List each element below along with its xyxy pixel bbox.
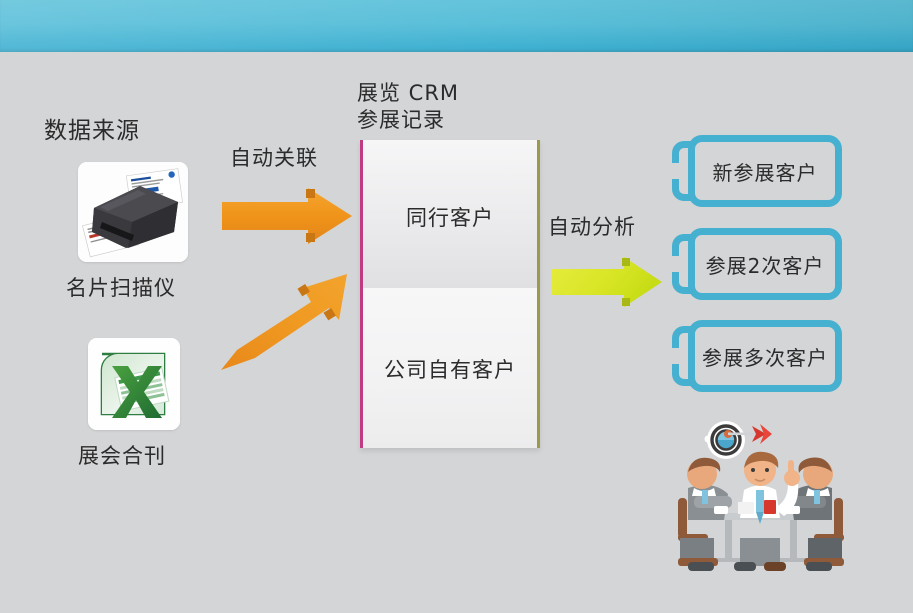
crm-record-panel: 同行客户 公司自有客户 (360, 140, 540, 448)
outcome-box-multi[interactable]: 参展多次客户 (672, 320, 842, 392)
diagram-canvas: 数据来源 (0, 0, 913, 613)
excel-file-icon (88, 338, 180, 430)
outcome-box-twice[interactable]: 参展2次客户 (672, 228, 842, 300)
card-scanner-icon (78, 162, 188, 262)
outcome-box-twice-bracket-gap (672, 256, 681, 272)
business-meeting-illustration (668, 412, 913, 592)
outcome-box-new[interactable]: 新参展客户 (672, 135, 842, 207)
outcome-box-new-bracket-gap (672, 163, 681, 179)
crm-segment-peer: 同行客户 (363, 140, 537, 288)
card-scanner-label: 名片扫描仪 (66, 275, 176, 301)
banner-gradient-overlay (0, 0, 913, 52)
crm-segment-peer-label: 同行客户 (363, 202, 537, 232)
outcome-box-multi-bracket-gap (672, 348, 681, 364)
crm-segment-own-label: 公司自有客户 (363, 354, 537, 384)
excel-file-label: 展会合刊 (78, 443, 166, 469)
outcome-box-twice-label: 参展2次客户 (688, 228, 842, 300)
person-left (678, 458, 732, 571)
data-source-heading: 数据来源 (44, 118, 140, 144)
outcome-box-multi-label: 参展多次客户 (688, 320, 842, 392)
top-banner (0, 0, 913, 52)
crm-title-line1: 展览 CRM (357, 80, 459, 107)
auto-analyze-label: 自动分析 (548, 214, 636, 240)
crm-title-line2: 参展记录 (357, 107, 445, 134)
auto-link-arrow-diagonal (215, 258, 355, 376)
auto-analyze-arrow (552, 255, 664, 309)
outcome-box-new-label: 新参展客户 (688, 135, 842, 207)
auto-link-label: 自动关联 (230, 145, 318, 171)
auto-link-arrow-horizontal (222, 186, 354, 248)
crm-segment-own: 公司自有客户 (363, 288, 537, 448)
